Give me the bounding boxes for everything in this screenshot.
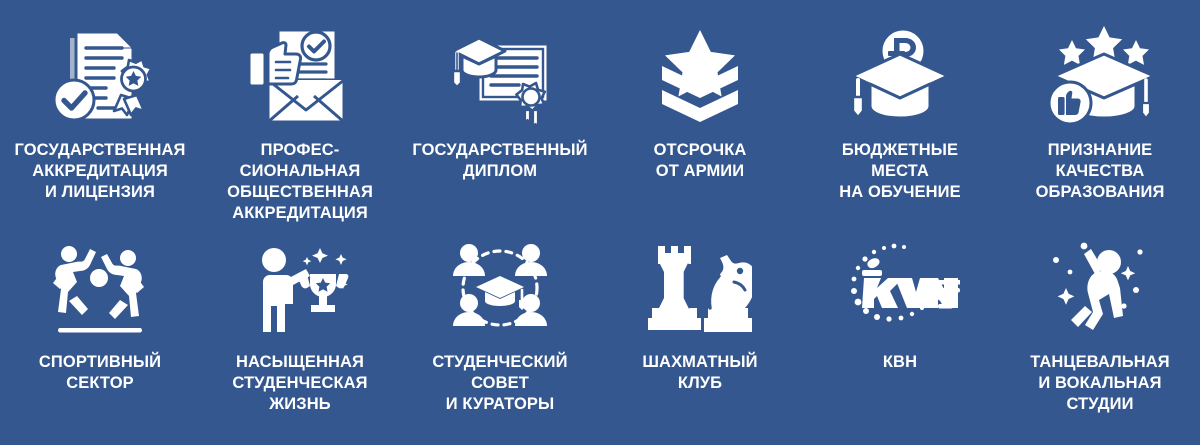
military-rank-star-chevrons-icon — [651, 22, 749, 130]
feature-item-budget-places[interactable]: БЮДЖЕТНЫЕ МЕСТА НА ОБУЧЕНИЕ — [800, 22, 1000, 228]
graduation-cap-stars-thumbs-up-icon — [1042, 22, 1158, 130]
feature-item-student-council[interactable]: СТУДЕНЧЕСКИЙ СОВЕТ И КУРАТОРЫ — [400, 238, 600, 445]
person-holding-trophy-icon — [248, 238, 352, 338]
feature-label: ТАНЦЕВАЛЬНАЯ И ВОКАЛЬНАЯ СТУДИИ — [1030, 352, 1169, 415]
graduation-cap-ruble-icon — [844, 22, 956, 130]
dancing-person-sparkles-icon — [1048, 238, 1152, 338]
feature-label: ГОСУДАРСТВЕННЫЙ ДИПЛОМ — [412, 140, 587, 182]
chess-rook-knight-icon — [648, 238, 752, 338]
feature-label: ПРОФЕС- СИОНАЛЬНАЯ ОБЩЕСТВЕННАЯ АККРЕДИТ… — [227, 140, 373, 224]
feature-item-state-accreditation[interactable]: ГОСУДАРСТВЕННАЯ АККРЕДИТАЦИЯ И ЛИЦЕНЗИЯ — [0, 22, 200, 228]
feature-row-2: СПОРТИВНЫЙ СЕКТОР — [0, 228, 1200, 445]
feature-item-sports-sector[interactable]: СПОРТИВНЫЙ СЕКТОР — [0, 238, 200, 445]
thumbs-up-envelope-document-icon — [244, 22, 356, 130]
feature-item-state-diploma[interactable]: ГОСУДАРСТВЕННЫЙ ДИПЛОМ — [400, 22, 600, 228]
feature-label: КВН — [883, 352, 917, 373]
feature-item-army-deferment[interactable]: ОТСРОЧКА ОТ АРМИИ — [600, 22, 800, 228]
diploma-graduation-cap-icon — [445, 22, 555, 130]
kvn-logo-icon — [840, 238, 960, 338]
feature-label: ОТСРОЧКА ОТ АРМИИ — [654, 140, 747, 182]
feature-label: НАСЫЩЕННАЯ СТУДЕНЧЕСКАЯ ЖИЗНЬ — [232, 352, 367, 415]
feature-item-chess-club[interactable]: ШАХМАТНЫЙ КЛУБ — [600, 238, 800, 445]
feature-label: СТУДЕНЧЕСКИЙ СОВЕТ И КУРАТОРЫ — [432, 352, 567, 415]
four-people-graduation-cap-circle-icon — [450, 238, 550, 338]
feature-label: СПОРТИВНЫЙ СЕКТОР — [39, 352, 161, 394]
infographic-board: ГОСУДАРСТВЕННАЯ АККРЕДИТАЦИЯ И ЛИЦЕНЗИЯ — [0, 0, 1200, 445]
feature-label: БЮДЖЕТНЫЕ МЕСТА НА ОБУЧЕНИЕ — [839, 140, 960, 203]
feature-item-student-life[interactable]: НАСЫЩЕННАЯ СТУДЕНЧЕСКАЯ ЖИЗНЬ — [200, 238, 400, 445]
feature-item-kvn[interactable]: КВН — [800, 238, 1000, 445]
certificate-with-check-icon — [48, 22, 152, 130]
feature-item-quality-recognition[interactable]: ПРИЗНАНИЕ КАЧЕСТВА ОБРАЗОВАНИЯ — [1000, 22, 1200, 228]
feature-label: ШАХМАТНЫЙ КЛУБ — [642, 352, 757, 394]
feature-label: ПРИЗНАНИЕ КАЧЕСТВА ОБРАЗОВАНИЯ — [1036, 140, 1165, 203]
two-dancers-ball-icon — [50, 238, 150, 338]
feature-item-professional-accreditation[interactable]: ПРОФЕС- СИОНАЛЬНАЯ ОБЩЕСТВЕННАЯ АККРЕДИТ… — [200, 22, 400, 228]
feature-row-1: ГОСУДАРСТВЕННАЯ АККРЕДИТАЦИЯ И ЛИЦЕНЗИЯ — [0, 0, 1200, 228]
feature-label: ГОСУДАРСТВЕННАЯ АККРЕДИТАЦИЯ И ЛИЦЕНЗИЯ — [15, 140, 186, 203]
feature-item-dance-vocal-studio[interactable]: ТАНЦЕВАЛЬНАЯ И ВОКАЛЬНАЯ СТУДИИ — [1000, 238, 1200, 445]
